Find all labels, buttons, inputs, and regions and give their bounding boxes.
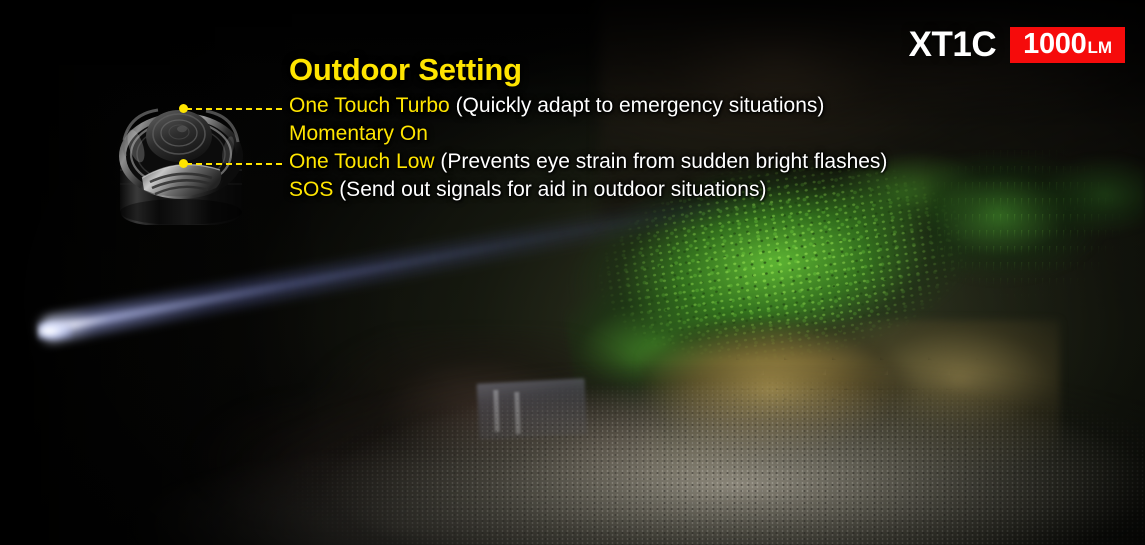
feature-desc-turbo: (Quickly adapt to emergency situations) [450, 94, 825, 117]
feature-line-sos: SOS (Send out signals for aid in outdoor… [289, 176, 1069, 204]
lumen-badge: 1000 LM [1010, 27, 1125, 63]
feature-name-low: One Touch Low [289, 150, 435, 173]
callout-leader-line-low [186, 163, 282, 165]
model-header: XT1C 1000 LM [909, 25, 1125, 65]
feature-desc-low: (Prevents eye strain from sudden bright … [435, 150, 888, 173]
lumen-value: 1000 [1023, 30, 1086, 59]
lumen-unit: LM [1087, 39, 1112, 56]
feature-line-momentary-on: Momentary On [289, 120, 1069, 148]
feature-line-low: One Touch Low (Prevents eye strain from … [289, 148, 1069, 176]
feature-name-turbo: One Touch Turbo [289, 94, 450, 117]
outdoor-setting-callout: Outdoor Setting One Touch Turbo (Quickly… [289, 52, 1069, 204]
callout-leader-line-turbo [186, 108, 282, 110]
feature-name-momentary-on: Momentary On [289, 122, 428, 145]
feature-line-turbo: One Touch Turbo (Quickly adapt to emerge… [289, 92, 1069, 120]
feature-name-sos: SOS [289, 178, 333, 201]
product-feature-banner: Outdoor Setting One Touch Turbo (Quickly… [0, 0, 1145, 545]
model-name: XT1C [909, 25, 996, 65]
feature-desc-sos: (Send out signals for aid in outdoor sit… [333, 178, 766, 201]
